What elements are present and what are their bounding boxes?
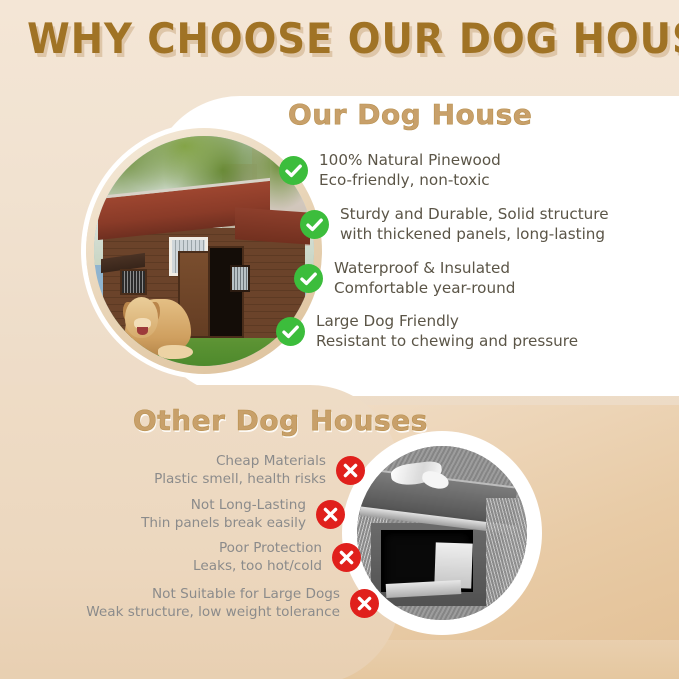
pro-item-line2: with thickened panels, long-lasting <box>340 225 605 243</box>
photo-window-left <box>120 269 146 294</box>
pro-item-line1: Large Dog Friendly <box>316 312 459 330</box>
pro-list-item: Large Dog Friendly Resistant to chewing … <box>276 311 578 351</box>
check-circle-icon <box>276 317 305 346</box>
cross-circle-icon <box>332 543 361 572</box>
pro-item-line2: Resistant to chewing and pressure <box>316 332 578 350</box>
con-item-text: Cheap Materials Plastic smell, health ri… <box>154 452 326 488</box>
con-item-line2: Weak structure, low weight tolerance <box>86 604 340 620</box>
cross-circle-icon <box>316 500 345 529</box>
pro-item-line1: Sturdy and Durable, Solid structure <box>340 205 609 223</box>
con-list-item: Poor Protection Leaks, too hot/cold <box>193 539 361 575</box>
con-list-item: Not Long-Lasting Thin panels break easil… <box>141 496 345 532</box>
photo-window-door <box>230 265 250 293</box>
pro-item-line2: Comfortable year-round <box>334 279 515 297</box>
con-item-line1: Not Suitable for Large Dogs <box>152 586 340 602</box>
pro-item-text: 100% Natural Pinewood Eco-friendly, non-… <box>319 150 501 190</box>
page-title: WHY CHOOSE OUR DOG HOUSE?" <box>27 18 652 60</box>
cross-circle-icon <box>350 589 379 618</box>
pro-list-item: Sturdy and Durable, Solid structure with… <box>300 204 609 244</box>
photo-red-roof-side <box>235 207 310 244</box>
con-item-line2: Leaks, too hot/cold <box>193 558 322 574</box>
section-heading-our-dog-house: Our Dog House <box>288 98 532 131</box>
page-title-text: WHY CHOOSE OUR DOG HOUSE? <box>27 14 679 63</box>
con-item-text: Poor Protection Leaks, too hot/cold <box>193 539 322 575</box>
con-item-line1: Poor Protection <box>219 540 322 556</box>
pro-item-text: Large Dog Friendly Resistant to chewing … <box>316 311 578 351</box>
photo-dog-mouth <box>137 327 148 335</box>
photo-doorway <box>208 246 243 338</box>
other-dog-house-photo <box>357 446 527 620</box>
con-list-item: Cheap Materials Plastic smell, health ri… <box>154 452 365 488</box>
check-circle-icon <box>279 156 308 185</box>
pro-item-line1: Waterproof & Insulated <box>334 259 510 277</box>
cross-circle-icon <box>336 456 365 485</box>
pro-item-line1: 100% Natural Pinewood <box>319 151 501 169</box>
con-item-line2: Thin panels break easily <box>141 515 306 531</box>
check-circle-icon <box>294 264 323 293</box>
pro-item-line2: Eco-friendly, non-toxic <box>319 171 490 189</box>
pro-item-text: Sturdy and Durable, Solid structure with… <box>340 204 609 244</box>
pro-item-text: Waterproof & Insulated Comfortable year-… <box>334 258 515 298</box>
pro-list-item: Waterproof & Insulated Comfortable year-… <box>294 258 515 298</box>
con-item-text: Not Long-Lasting Thin panels break easil… <box>141 496 306 532</box>
check-circle-icon <box>300 210 329 239</box>
con-item-line1: Not Long-Lasting <box>191 497 306 513</box>
pro-list-item: 100% Natural Pinewood Eco-friendly, non-… <box>279 150 501 190</box>
section-heading-other-dog-houses: Other Dog Houses <box>133 404 428 437</box>
con-item-line1: Cheap Materials <box>216 453 326 469</box>
con-item-text: Not Suitable for Large Dogs Weak structu… <box>86 585 340 621</box>
bad-photo-grass-right <box>486 498 527 613</box>
con-list-item: Not Suitable for Large Dogs Weak structu… <box>86 585 379 621</box>
con-item-line2: Plastic smell, health risks <box>154 471 326 487</box>
infographic-canvas: WHY CHOOSE OUR DOG HOUSE?" Our Dog House <box>0 0 679 679</box>
photo-dog-leg <box>158 345 193 359</box>
